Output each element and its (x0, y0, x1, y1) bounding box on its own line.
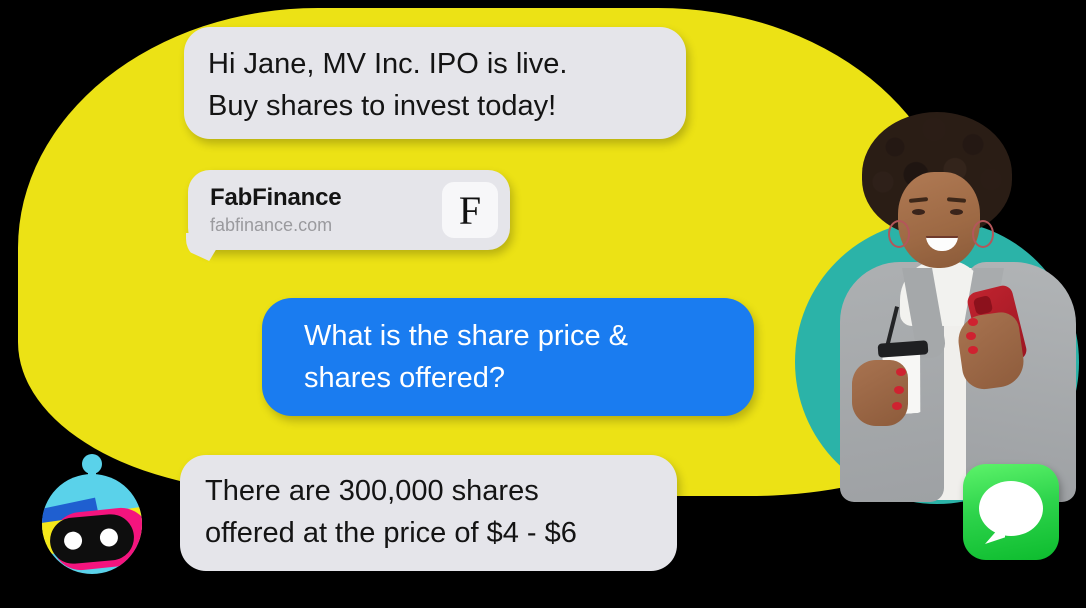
eye-left (912, 209, 925, 215)
chatbot-robot-icon[interactable] (36, 448, 148, 572)
robot-eye-right (99, 528, 119, 548)
fingernail (896, 368, 906, 376)
message-bubble-outgoing-1[interactable]: What is the share price & shares offered… (262, 298, 754, 416)
message-text: What is the share price & shares offered… (304, 315, 754, 399)
message-bubble-incoming-1[interactable]: Hi Jane, MV Inc. IPO is live. Buy shares… (184, 27, 686, 139)
message-bubble-incoming-2[interactable]: There are 300,000 shares offered at the … (180, 455, 677, 571)
brand-name: FabFinance (210, 184, 442, 212)
promo-scene: Hi Jane, MV Inc. IPO is live. Buy shares… (0, 0, 1086, 608)
customer-photo (790, 110, 1080, 500)
imessage-app-icon[interactable] (963, 464, 1059, 560)
brand-logo-icon: F (442, 182, 498, 238)
fingernail (892, 402, 902, 410)
message-text: There are 300,000 shares offered at the … (205, 470, 677, 554)
person-illustration (790, 110, 1080, 500)
speech-bubble-icon (979, 481, 1043, 536)
fingernail (968, 346, 978, 354)
hoop-earring-right (972, 220, 994, 248)
fingernail (968, 318, 978, 326)
robot-head (42, 474, 142, 574)
brand-url[interactable]: fabfinance.com (210, 215, 442, 236)
person-face (898, 172, 980, 268)
robot-eye-left (63, 531, 83, 551)
fingernail (894, 386, 904, 394)
brand-card-texts: FabFinance fabfinance.com (188, 184, 442, 236)
eye-right (950, 209, 963, 215)
fingernail (966, 332, 976, 340)
hoop-earring-left (888, 220, 910, 248)
message-bubble-brand-card[interactable]: FabFinance fabfinance.com F (188, 170, 510, 250)
phone-camera-icon (973, 295, 994, 316)
message-text: Hi Jane, MV Inc. IPO is live. Buy shares… (208, 43, 686, 127)
